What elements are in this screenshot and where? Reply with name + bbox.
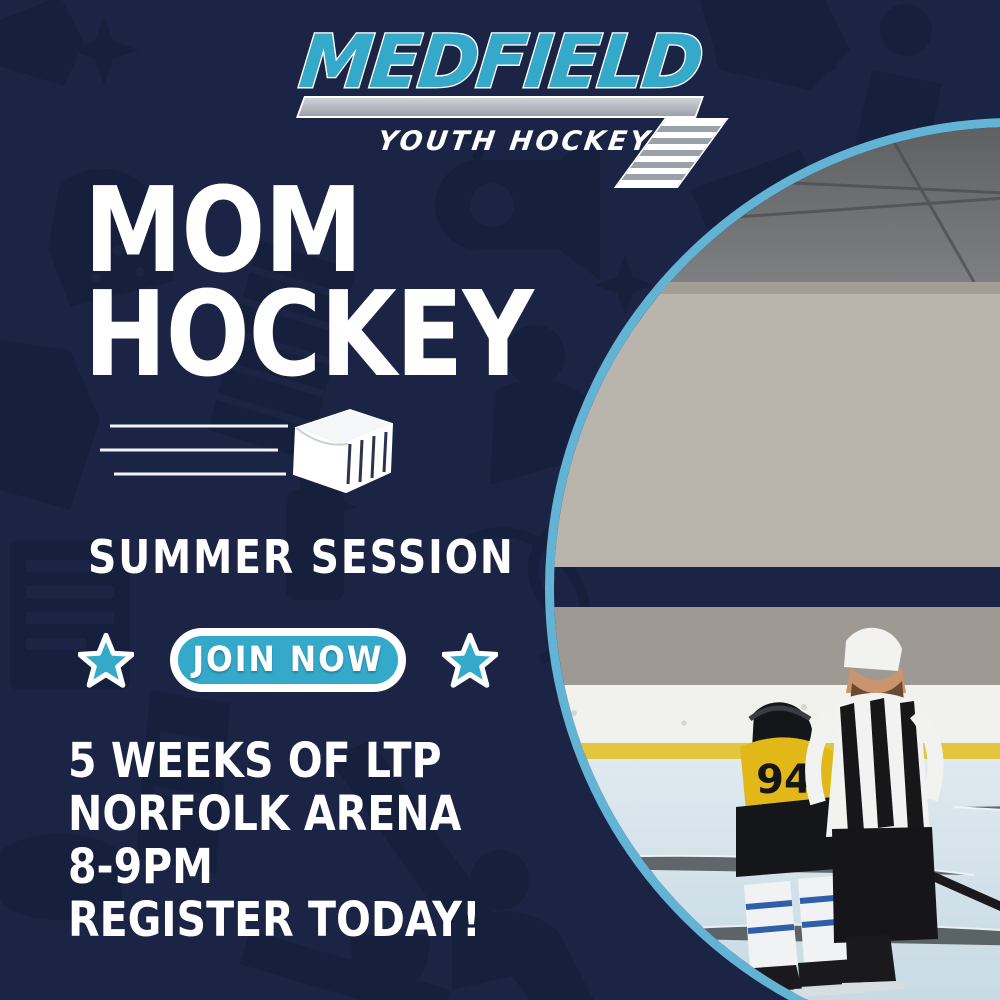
page-title: MOM HOCKEY	[84, 178, 533, 386]
detail-line-venue: NORFOLK ARENA	[68, 788, 481, 841]
logo-wordmark: MEDFIELD	[296, 22, 725, 104]
logo-tagline: YOUTH HOCKEY	[376, 126, 655, 157]
join-now-label: JOIN NOW	[192, 640, 383, 680]
flying-puck-icon	[100, 398, 400, 508]
detail-line-call-to-action: REGISTER TODAY!	[68, 894, 481, 947]
detail-line-duration: 5 WEEKS OF LTP	[68, 735, 481, 788]
star-icon	[442, 632, 498, 688]
detail-line-time: 8-9PM	[68, 841, 481, 894]
rink-photo: PARTNER	[545, 118, 1000, 1000]
join-now-button[interactable]: JOIN NOW	[170, 628, 406, 692]
star-icon	[78, 632, 134, 688]
headline-line-2: HOCKEY	[84, 282, 533, 386]
poster-canvas: PARTNER	[0, 0, 1000, 1000]
svg-text:94: 94	[756, 757, 812, 803]
hockey-stick-icon	[296, 96, 704, 118]
cta-row: JOIN NOW	[78, 614, 498, 706]
logo: MEDFIELD YOUTH HOCKEY	[300, 22, 720, 152]
subhead: SUMMER SESSION	[88, 530, 515, 584]
event-details: 5 WEEKS OF LTP NORFOLK ARENA 8-9PM REGIS…	[68, 735, 481, 947]
